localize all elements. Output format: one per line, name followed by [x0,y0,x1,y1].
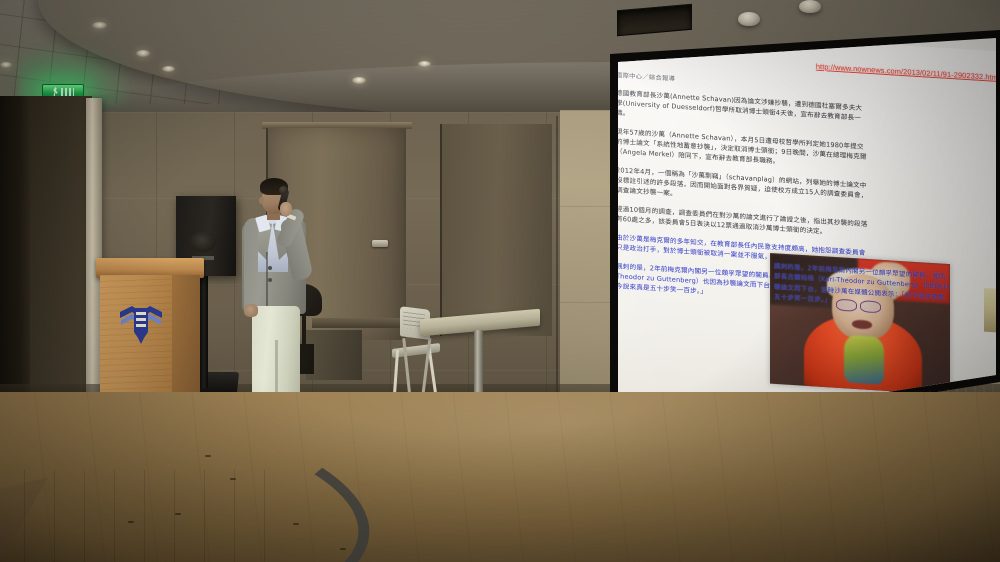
slide-photo-schavan: 諷刺的是，2年前梅克爾內閣另一位頗孚眾望的閣員、國防部長古騰柏格（Karl-Th… [770,253,950,395]
floor-fastener [293,523,299,525]
floor-fastener [340,548,346,550]
wall-seam [556,116,558,416]
speaker-stand-pole [200,276,208,388]
photo-scarf [844,335,884,385]
ceiling-speaker [799,0,821,13]
ceiling-speaker [738,12,760,26]
right-hand [280,202,292,216]
recessed-downlight [352,77,366,84]
recessed-downlight [92,22,107,29]
speaker-at-stage [236,178,322,424]
lectern-side-panel [172,275,200,403]
speaker-cone-icon [190,232,216,252]
blazer-button [268,266,272,270]
slide-paragraph: 2012年4月，一個稱為「沙萬剽竊」（schavanplag）的網站，列舉她的博… [616,165,868,210]
slide-paragraph: 德國教育部長沙萬(Annette Schavan)因為論文涉嫌抄襲，遭到德國杜塞… [616,88,868,133]
recessed-downlight [136,50,150,57]
projected-slide: http://www.nownews.com/2013/02/11/91-290… [596,30,1000,430]
recessed-downlight [418,61,431,67]
back-wall-door-secondary[interactable] [440,124,552,336]
table-post [474,330,483,400]
projection-screen: http://www.nownews.com/2013/02/11/91-290… [596,30,1000,450]
left-wall-dark-strip [0,96,30,396]
lecture-hall-photo: http://www.nownews.com/2013/02/11/91-290… [0,0,1000,562]
institution-crest [116,298,166,354]
recessed-downlight [0,62,12,68]
floor-fastener [175,513,181,515]
microphone-head-icon [279,186,288,194]
recessed-downlight [162,66,175,72]
screen-surface: http://www.nownews.com/2013/02/11/91-290… [596,30,1000,430]
left-hand [244,304,258,317]
floor-fastener [205,455,211,457]
slide-paragraph: 現年57歲的沙萬（Annette Schavan），本月5日遭母校哲學所判定她1… [616,127,868,172]
door-handle-icon[interactable] [372,240,388,247]
ear [259,197,264,204]
floor-fastener [128,521,134,523]
blazer-button [268,278,272,282]
stage-riser-tile-seams [0,470,294,562]
floor-fastener [230,478,236,480]
